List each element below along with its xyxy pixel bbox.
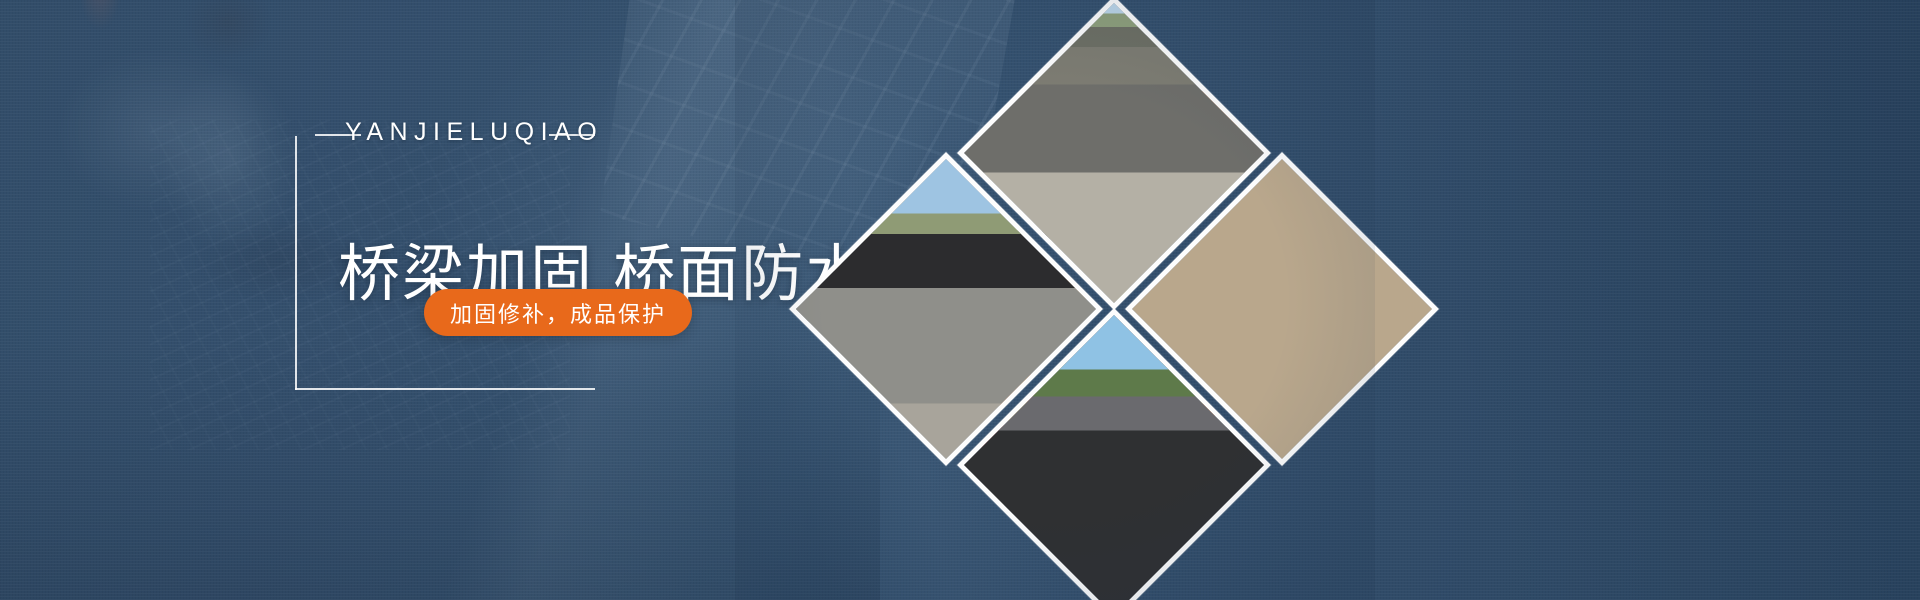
hero-eyebrow-pinyin: YANJIELUQIAO (345, 120, 603, 145)
hero-text-block: YANJIELUQIAO 桥梁加固 桥面防水 加固修补，成品保护 (0, 0, 760, 600)
bracket-bottom-line (295, 388, 595, 390)
diamond-photo-collage (735, 0, 1375, 600)
hero-banner: YANJIELUQIAO 桥梁加固 桥面防水 加固修补，成品保护 (0, 0, 1920, 600)
bracket-left-line (295, 136, 297, 390)
hero-tagline-badge: 加固修补，成品保护 (424, 289, 692, 336)
